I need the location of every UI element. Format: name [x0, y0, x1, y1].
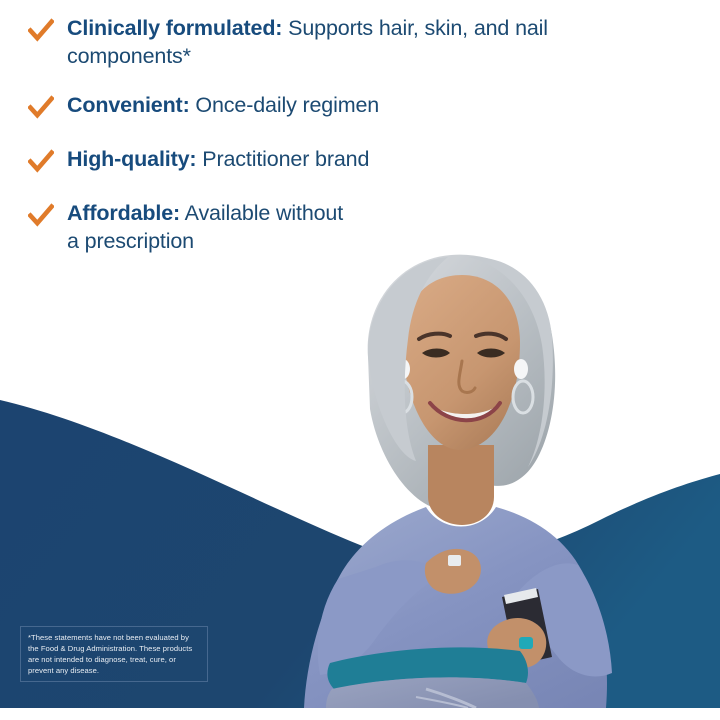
check-icon	[28, 18, 54, 46]
list-item-lead: Clinically formulated:	[67, 16, 282, 40]
list-item-body: Once-daily regimen	[190, 93, 380, 117]
list-item-text: Clinically formulated: Supports hair, sk…	[67, 14, 660, 71]
promo-banner: Clinically formulated: Supports hair, sk…	[0, 0, 720, 720]
bottom-white-strip	[0, 708, 720, 720]
list-item-lead: Convenient:	[67, 93, 190, 117]
check-icon	[28, 95, 54, 123]
list-item-text: Convenient: Once-daily regimen	[67, 91, 379, 119]
list-item: Affordable: Available without a prescrip…	[0, 199, 388, 256]
list-item: Convenient: Once-daily regimen	[0, 91, 660, 123]
list-item-text: Affordable: Available without a prescrip…	[67, 199, 357, 256]
list-item-lead: Affordable:	[67, 201, 180, 225]
list-item: Clinically formulated: Supports hair, sk…	[0, 14, 660, 71]
benefits-list: Clinically formulated: Supports hair, sk…	[0, 0, 660, 278]
check-icon	[28, 149, 54, 177]
list-item: High-quality: Practitioner brand	[0, 145, 660, 177]
list-item-body: Practitioner brand	[196, 147, 369, 171]
list-item-text: High-quality: Practitioner brand	[67, 145, 369, 173]
disclaimer-text: *These statements have not been evaluate…	[28, 632, 201, 676]
person-photo	[276, 245, 696, 708]
check-icon	[28, 203, 54, 231]
disclaimer-box: *These statements have not been evaluate…	[20, 626, 208, 682]
list-item-lead: High-quality:	[67, 147, 196, 171]
